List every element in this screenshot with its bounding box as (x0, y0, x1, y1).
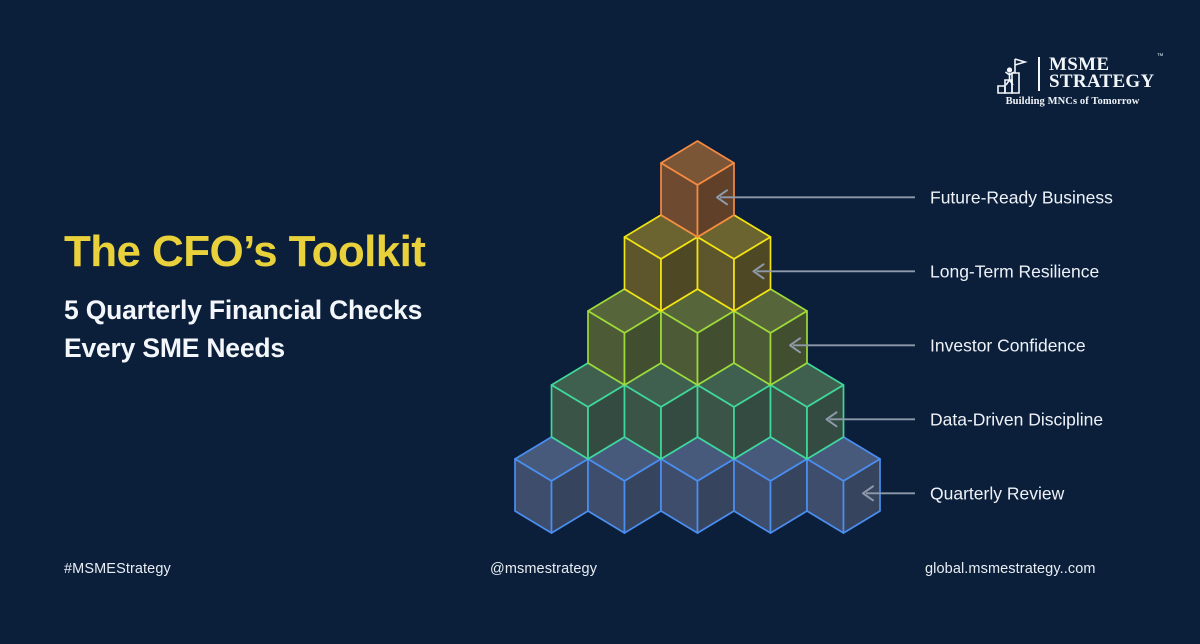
callout-label: Data-Driven Discipline (930, 409, 1103, 429)
callout-label-group: Future-Ready BusinessLong-Term Resilienc… (930, 187, 1113, 503)
callout-label: Quarterly Review (930, 483, 1065, 503)
pyramid-tier (588, 289, 807, 385)
callout-label: Future-Ready Business (930, 187, 1113, 207)
footer-hashtag: #MSMEStrategy (64, 561, 171, 577)
footer-website: global.msmestrategy..com (925, 561, 1096, 577)
footer-social-handle: @msmestrategy (490, 561, 597, 577)
cube-pyramid-diagram: Future-Ready BusinessLong-Term Resilienc… (0, 0, 1200, 644)
pyramid-tier (515, 437, 880, 533)
pyramid-cube-group (515, 141, 880, 533)
callout-label: Long-Term Resilience (930, 261, 1099, 281)
callout-label: Investor Confidence (930, 335, 1086, 355)
